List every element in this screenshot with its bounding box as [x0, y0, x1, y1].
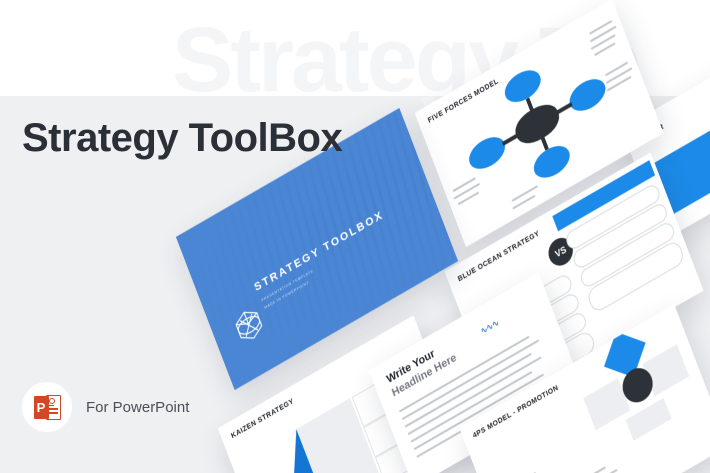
four-ps-tile — [626, 398, 672, 441]
arrow-up — [526, 97, 535, 112]
competitive-rivalry-hub — [511, 98, 563, 150]
force-node-right — [565, 73, 609, 118]
page-title: Strategy ToolBox — [22, 116, 342, 160]
powerpoint-letter: P — [34, 396, 49, 419]
force-node-left — [465, 131, 509, 176]
platform-badge[interactable]: P For PowerPoint — [22, 382, 189, 432]
arrow-right — [556, 102, 573, 115]
zigzag-accent: ∿∿∿ — [479, 318, 500, 338]
platform-badge-label: For PowerPoint — [86, 399, 189, 416]
arrow-left — [502, 133, 519, 146]
arrow-down — [540, 135, 549, 150]
powerpoint-bullet — [49, 398, 55, 404]
force-node-top — [501, 64, 545, 109]
powerpoint-icon: P — [22, 382, 72, 432]
force-node-bottom — [530, 140, 574, 185]
poster-canvas: Strategy To THE GR FIVE FORCES MODEL — [0, 0, 710, 473]
five-forces-title: FIVE FORCES MODEL — [427, 78, 499, 125]
